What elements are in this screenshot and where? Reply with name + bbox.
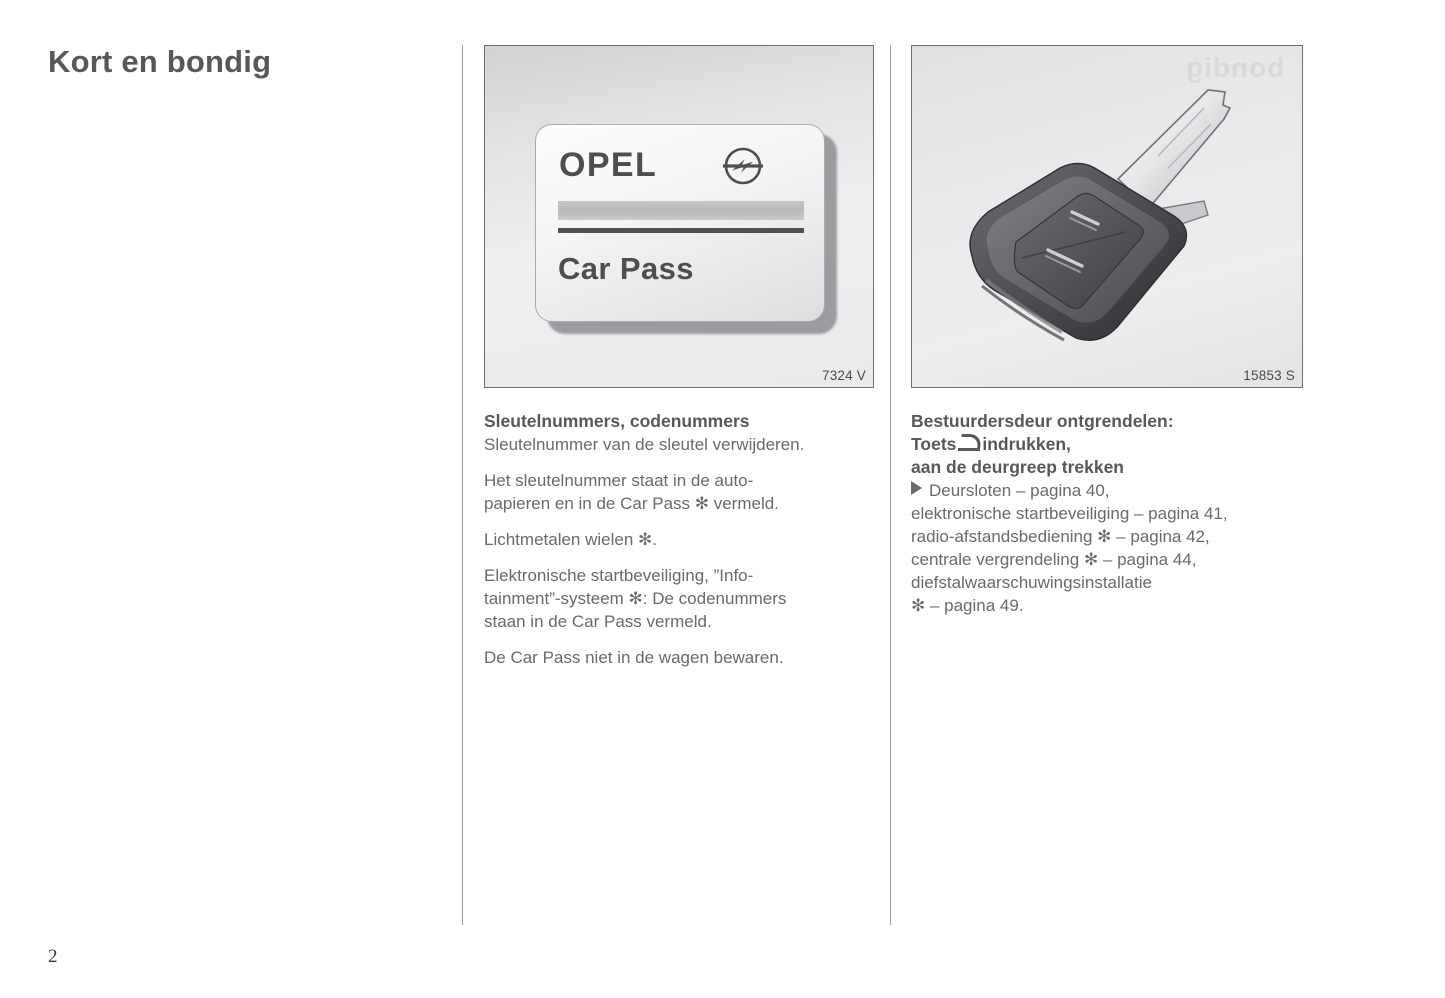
left-paragraph-2: Het sleutelnummer staat in de auto- papi… [484,470,874,516]
left-p4-line-3: staan in de Car Pass vermeld. [484,612,712,631]
right-heading-line-2b: indrukken, [982,434,1071,454]
key-fob-illustration: bondig [912,46,1302,387]
right-body-line-6: ✻ – pagina 49. [911,596,1024,615]
right-reference-list: Deursloten – pagina 40, elektronische st… [911,480,1303,618]
opel-wordmark: OPEL [559,146,657,185]
left-p4-line-1: Elektronische startbeveiliging, ”Info- [484,566,753,585]
figure-car-pass: OPEL Car Pass 7324 V [484,45,874,388]
right-text-block: Bestuurdersdeur ontgrendelen: Toetsindru… [911,410,1303,618]
left-paragraph-3: Lichtmetalen wielen ✻. [484,529,874,552]
column-divider-right [890,45,891,925]
left-p3-line-1: Lichtmetalen wielen ✻. [484,530,657,549]
right-body-line-4: centrale vergrendeling ✻ – pagina 44, [911,550,1197,569]
page-number: 2 [48,946,58,968]
car-pass-label: Car Pass [558,251,694,287]
left-p5-line-1: De Car Pass niet in de wagen bewaren. [484,648,784,667]
left-column: OPEL Car Pass 7324 V Sleutelnummers, cod… [484,45,874,683]
car-pass-illustration: OPEL Car Pass [485,46,873,387]
left-p2-line-2: papieren en in de Car Pass ✻ vermeld. [484,494,779,513]
unlock-symbol-icon [958,437,980,451]
triangle-right-icon [911,481,922,495]
left-paragraph-4: Elektronische startbeveiliging, ”Info- t… [484,565,874,634]
car-pass-card: OPEL Car Pass [535,124,825,322]
page-title: Kort en bondig [48,44,271,80]
left-paragraph-5: De Car Pass niet in de wagen bewaren. [484,647,874,670]
opel-blitz-logo-icon [722,145,764,187]
card-gray-band [558,201,804,220]
figure-caption-right: 15853 S [1243,368,1295,383]
left-paragraph-1: Sleutelnummer van de sleutel verwijderen… [484,434,874,457]
right-body-line-1: Deursloten – pagina 40, [929,481,1110,500]
left-text-block: Sleutelnummers, codenummers Sleutelnumme… [484,410,874,670]
right-column: bondig [911,45,1303,631]
card-dark-rule [558,228,804,233]
left-heading: Sleutelnummers, codenummers [484,410,874,433]
column-divider-left [462,45,463,925]
right-heading: Bestuurdersdeur ontgrendelen: Toetsindru… [911,410,1303,479]
right-body-line-5: diefstalwaarschuwingsinstallatie [911,573,1152,592]
left-p4-line-2: tainment”-systeem ✻: De codenummers [484,589,786,608]
right-heading-line-2a: Toets [911,434,956,454]
figure-caption-left: 7324 V [822,368,866,383]
right-heading-line-3: aan de deurgreep trekken [911,457,1124,477]
left-p1-line-1: Sleutelnummer van de sleutel verwijderen… [484,435,804,454]
right-heading-line-1: Bestuurdersdeur ontgrendelen: [911,411,1174,431]
right-body-line-3: radio-afstandsbediening ✻ – pagina 42, [911,527,1210,546]
figure-key-fob: bondig [911,45,1303,388]
left-p2-line-1: Het sleutelnummer staat in de auto- [484,471,753,490]
right-body-line-2: elektronische startbeveiliging – pagina … [911,504,1228,523]
